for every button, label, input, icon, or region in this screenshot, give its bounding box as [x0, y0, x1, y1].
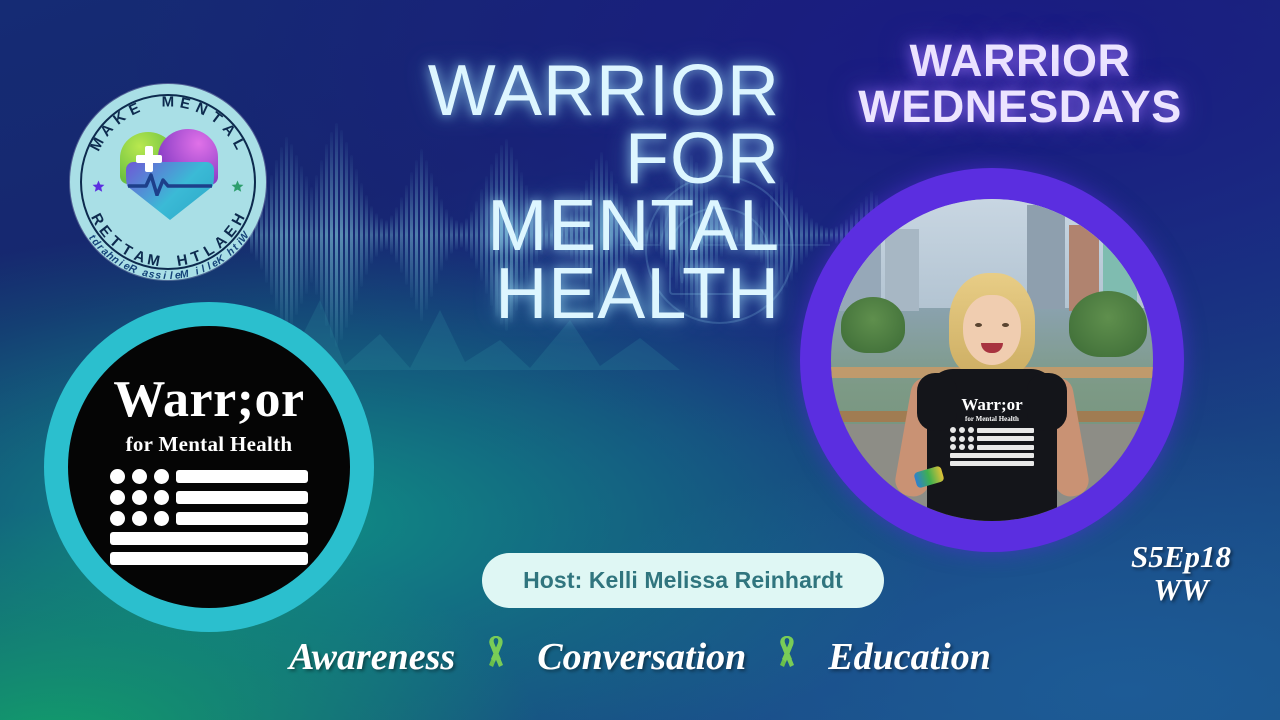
host-portrait-frame: Warr;or for Mental Health [800, 168, 1184, 552]
warrior-flag-graphic [110, 469, 308, 572]
warrior-logo-subtitle: for Mental Health [126, 432, 293, 457]
series-title: WARRIOR WEDNESDAYS [800, 38, 1240, 130]
awareness-ribbon-icon [772, 634, 802, 680]
host-portrait: Warr;or for Mental Health [831, 199, 1153, 521]
host-label: Host: Kelli Melissa Reinhardt [523, 567, 843, 594]
tagline-word-conversation: Conversation [537, 635, 746, 679]
page-title: WARRIOR FOR MENTAL HEALTH [300, 58, 780, 329]
episode-number: S5Ep18 [1096, 540, 1266, 573]
photo-person: Warr;or for Mental Health [901, 273, 1083, 521]
episode-tag: S5Ep18 WW [1096, 540, 1266, 607]
warrior-logo-title: Warr;or [113, 374, 304, 426]
series-line-2: WEDNESDAYS [800, 84, 1240, 130]
photo-shirt-title: Warr;or [944, 395, 1040, 415]
tagline-word-education: Education [828, 635, 991, 679]
tagline-word-awareness: Awareness [289, 635, 455, 679]
star-icon [231, 180, 244, 193]
podcast-cover-canvas: MAKE MENTAL HEALTH MATTER With Kelli Mel… [0, 0, 1280, 720]
star-icon [92, 180, 105, 193]
title-line-4: HEALTH [300, 261, 780, 329]
series-line-1: WARRIOR [800, 38, 1240, 84]
photo-shirt-flag [950, 427, 1034, 469]
episode-code: WW [1096, 573, 1266, 606]
title-line-1: WARRIOR [300, 58, 780, 126]
heartbeat-icon [128, 172, 212, 196]
awareness-ribbon-icon [481, 634, 511, 680]
make-mental-health-matter-badge: MAKE MENTAL HEALTH MATTER With Kelli Mel… [70, 84, 266, 280]
photo-face [963, 295, 1021, 365]
warrior-for-mental-health-logo: Warr;or for Mental Health [44, 302, 374, 632]
host-banner: Host: Kelli Melissa Reinhardt [482, 553, 884, 608]
medical-cross-icon [136, 146, 162, 172]
tagline-row: Awareness Conversation Education [0, 634, 1280, 680]
photo-shirt-subtitle: for Mental Health [944, 415, 1040, 423]
title-line-2: FOR [300, 126, 780, 194]
title-line-3: MENTAL [300, 193, 780, 261]
photo-tree [841, 297, 905, 353]
